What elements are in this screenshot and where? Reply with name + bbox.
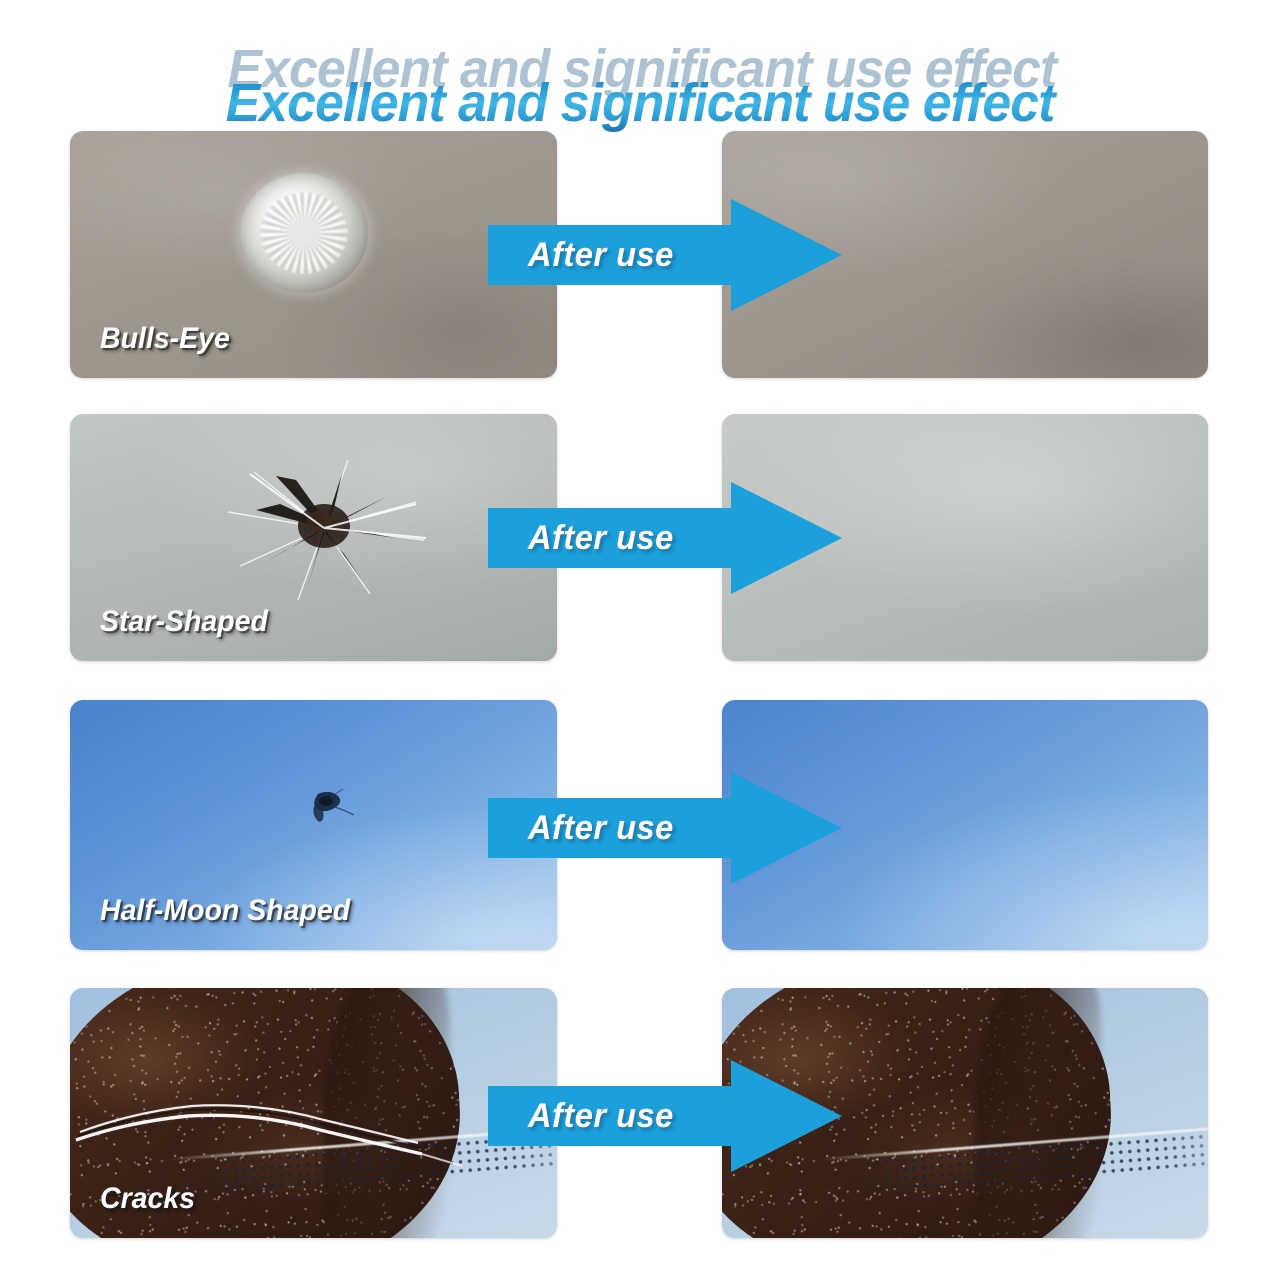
panel-label-star-shaped: Star-Shaped: [100, 605, 268, 639]
after-use-label: After use: [528, 772, 674, 884]
after-use-label: After use: [528, 199, 674, 311]
comparison-row-cracks: Cracks After use: [0, 988, 1280, 1238]
half-moon-chip-damage: [302, 786, 356, 828]
after-use-arrow-bulls-eye: After use: [488, 199, 842, 311]
bullseye-chip-damage: [240, 173, 368, 293]
before-panel-bulls-eye[interactable]: Bulls-Eye: [70, 131, 557, 378]
comparison-row-star-shaped: Star-Shaped After use: [0, 414, 1280, 661]
half-moon-chip-icon: [302, 786, 356, 828]
panel-label-half-moon: Half-Moon Shaped: [100, 894, 350, 928]
after-use-arrow-cracks: After use: [488, 1060, 842, 1172]
before-panel-star-shaped[interactable]: Star-Shaped: [70, 414, 557, 661]
star-crack-icon: [220, 454, 430, 604]
after-use-arrow-half-moon: After use: [488, 772, 842, 884]
after-use-arrow-star-shaped: After use: [488, 482, 842, 594]
before-panel-cracks[interactable]: Cracks: [70, 988, 557, 1238]
star-crack-damage: [220, 454, 430, 604]
before-panel-half-moon[interactable]: Half-Moon Shaped: [70, 700, 557, 950]
panel-label-bulls-eye: Bulls-Eye: [100, 322, 230, 356]
panel-label-cracks: Cracks: [100, 1182, 195, 1216]
canopy-edge: [975, 988, 1101, 1238]
comparison-row-half-moon: Half-Moon Shaped After use: [0, 700, 1280, 950]
comparison-row-bulls-eye: Bulls-Eye After use: [0, 131, 1280, 378]
after-use-label: After use: [528, 1060, 674, 1172]
canopy-edge: [323, 988, 450, 1238]
after-use-label: After use: [528, 482, 674, 594]
comparison-rows: Bulls-Eye After use: [0, 0, 1280, 1280]
